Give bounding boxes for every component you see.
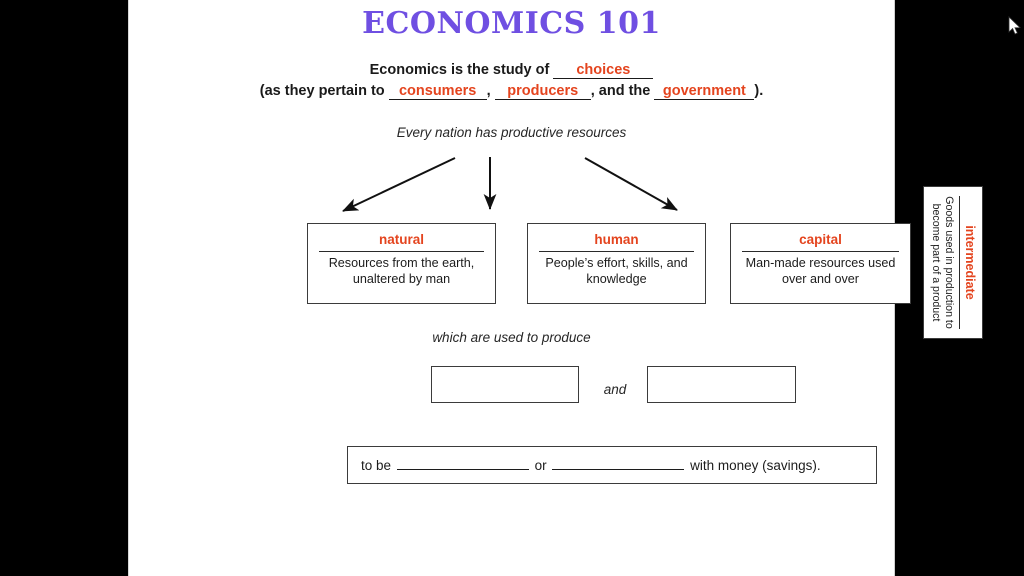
resource-term-human: human [537,231,696,251]
definition-line-2: (as they pertain to consumers, producers… [129,81,894,102]
definition-line-1: Economics is the study of choices [370,62,654,78]
arrow-to-natural-icon [329,155,459,217]
definition-lead: Economics is the study of [370,62,550,78]
resource-description-capital: Man-made resources used over and over [740,256,901,287]
arrow-to-human-icon [481,155,499,217]
resource-description-natural: Resources from the earth, unaltered by m… [317,256,486,287]
resource-rule-natural [319,251,484,252]
answer-government[interactable]: government [654,83,754,100]
resource-rule-human [539,251,694,252]
savings-blank-2[interactable] [552,458,684,470]
caption-used-to-produce: which are used to produce [129,330,894,345]
savings-box[interactable]: to be or with money (savings). [347,446,877,484]
resource-box-intermediate[interactable]: intermediate Goods used in production to… [923,186,983,339]
savings-sentence: to be or with money (savings). [361,458,821,473]
savings-prefix: to be [361,458,391,473]
page-title: ECONOMICS 101 [129,6,894,41]
savings-conjunction: or [535,458,547,473]
resource-description-intermediate: Goods used in production to become part … [929,194,955,331]
product-box-right[interactable] [647,366,796,403]
savings-suffix: with money (savings). [690,458,821,473]
product-box-left[interactable] [431,366,579,403]
resource-box-human[interactable]: human People’s effort, skills, and knowl… [527,223,706,304]
answer-consumers[interactable]: consumers [389,83,487,100]
answer-producers[interactable]: producers [495,83,591,100]
screen: ECONOMICS 101 Economics is the study of … [0,0,1024,576]
caption-productive-resources: Every nation has productive resources [129,125,894,140]
definition-comma: , [487,83,491,99]
resource-rule-intermediate [959,196,960,329]
resource-term-intermediate: intermediate [960,194,977,331]
slide-canvas: ECONOMICS 101 Economics is the study of … [128,0,895,576]
resource-description-human: People’s effort, skills, and knowledge [537,256,696,287]
resource-box-natural[interactable]: natural Resources from the earth, unalte… [307,223,496,304]
resource-rule-capital [742,251,899,252]
resource-term-capital: capital [740,231,901,251]
definition-line2-open: (as they pertain to [260,83,385,99]
savings-blank-1[interactable] [397,458,529,470]
definition-block: Economics is the study of choices (as th… [129,60,894,102]
answer-choices[interactable]: choices [553,62,653,79]
resource-box-capital[interactable]: capital Man-made resources used over and… [730,223,911,304]
definition-close: ). [754,83,763,99]
resource-term-natural: natural [317,231,486,251]
definition-mid: , and the [591,83,651,99]
arrow-to-capital-icon [579,155,689,217]
mouse-pointer-icon [1008,16,1022,36]
product-conjunction-label: and [591,382,639,397]
